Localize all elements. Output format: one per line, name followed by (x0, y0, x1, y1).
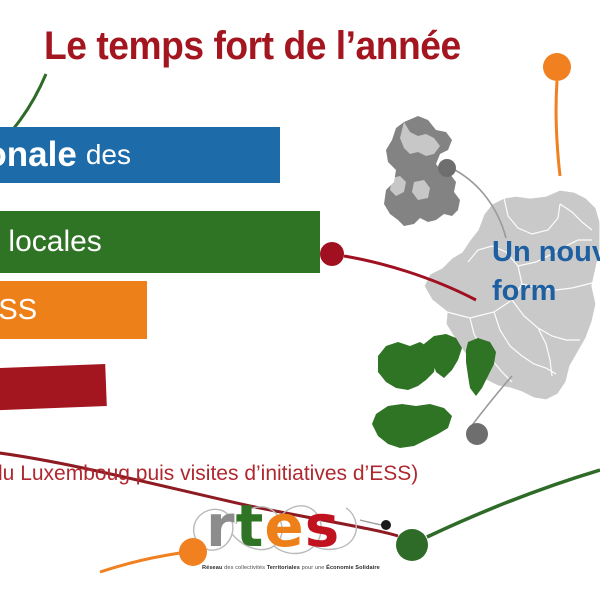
rtes-logo: rtes Réseau des collectivités Territoria… (196, 497, 406, 579)
band-orange-light: l’ESS (0, 294, 37, 327)
right-subheadline-line1: Un nouv (492, 233, 600, 272)
poster-canvas: Le temps fort de l’année e nationale des… (0, 0, 600, 600)
orange-curve-bottom (100, 553, 180, 572)
grey-dot-green-shapes (466, 423, 488, 445)
band-blue: e nationale des (0, 127, 280, 183)
green-curve-bottom (427, 470, 600, 537)
logo-letter-r: r (206, 492, 236, 560)
band-green-light: locales (8, 225, 101, 259)
grey-dot-map (438, 159, 456, 177)
orange-line-top (556, 81, 560, 176)
bottom-caption: is du Luxemboug puis visites d’initiativ… (0, 462, 418, 486)
logo-letter-e: e (264, 492, 304, 560)
tagline-part-b: des collectivités (224, 565, 265, 571)
band-green: ctivités locales (0, 211, 320, 273)
band-blue-light: des (86, 139, 131, 171)
band-blue-strong: e nationale (0, 135, 77, 175)
right-subheadline: Un nouv form (492, 233, 600, 310)
logo-letter-s: s (305, 492, 341, 560)
tagline-part-e: Économie Solidaire (326, 565, 380, 571)
page-title: Le temps fort de l’année (44, 24, 461, 69)
tagline-part-a: Réseau (202, 565, 223, 571)
rtes-wordmark: rtes (206, 497, 340, 555)
rtes-tagline: Réseau des collectivités Territoriales p… (202, 565, 380, 571)
tagline-part-d: pour une (302, 565, 325, 571)
band-red-year: 2016 (0, 379, 1, 401)
band-orange: de l’ESS (0, 281, 147, 339)
logo-letter-t: t (236, 492, 265, 560)
right-subheadline-line2: form (492, 272, 600, 311)
dark-red-dot (320, 242, 344, 266)
tagline-part-c: Territoriales (267, 565, 300, 571)
orange-dot-top (543, 53, 571, 81)
